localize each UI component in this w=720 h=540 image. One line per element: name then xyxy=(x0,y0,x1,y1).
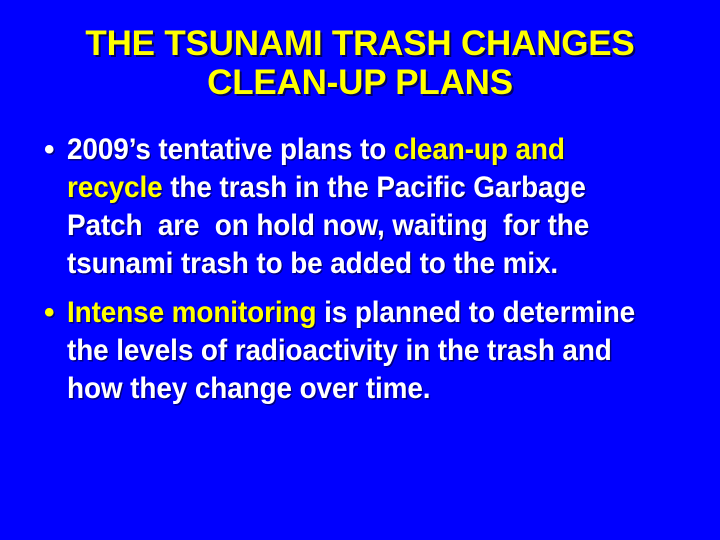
slide-canvas: THE TSUNAMI TRASH CHANGES CLEAN-UP PLANS… xyxy=(0,0,720,540)
page-title-line-1: THE TSUNAMI TRASH CHANGES xyxy=(18,24,702,63)
list-item: • Intense monitoring is planned to deter… xyxy=(38,294,693,408)
bullet-segment-plain: 2009’s tentative plans to xyxy=(67,133,394,166)
page-title: THE TSUNAMI TRASH CHANGES CLEAN-UP PLANS xyxy=(18,24,702,102)
list-item-text: Intense monitoring is planned to determi… xyxy=(67,294,649,408)
list-item-text: 2009’s tentative plans to clean-up and r… xyxy=(67,131,649,283)
list-item: • 2009’s tentative plans to clean-up and… xyxy=(38,131,693,283)
bullet-segment-highlight: Intense monitoring xyxy=(67,296,316,329)
page-title-line-2: CLEAN-UP PLANS xyxy=(18,63,702,102)
bullet-dot-icon: • xyxy=(38,131,67,169)
bullet-list: • 2009’s tentative plans to clean-up and… xyxy=(38,131,693,419)
bullet-dot-icon: • xyxy=(38,294,67,332)
